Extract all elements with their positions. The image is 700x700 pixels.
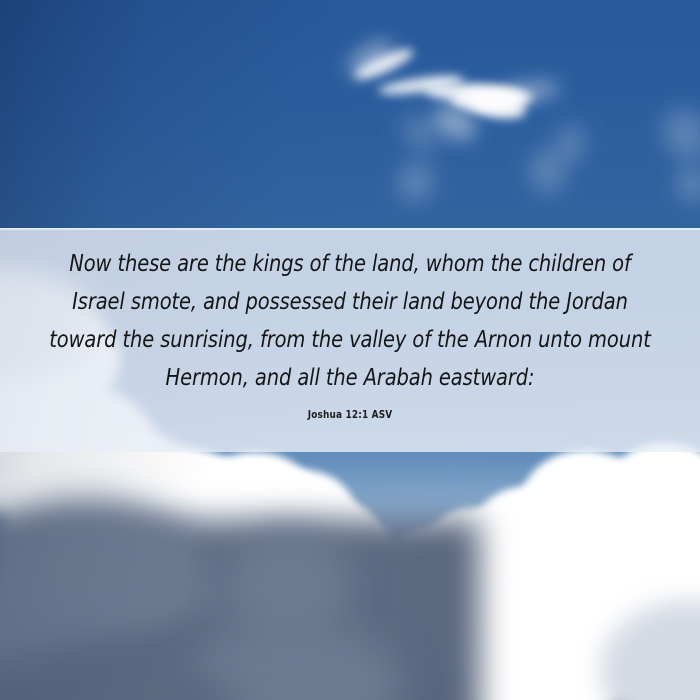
verse-image-canvas: Now these are the kings of the land, who…: [0, 0, 700, 700]
verse-reference: Joshua 12:1 ASV: [308, 408, 393, 421]
verse-text: Now these are the kings of the land, who…: [41, 244, 659, 396]
verse-overlay-band: Now these are the kings of the land, who…: [0, 228, 700, 452]
